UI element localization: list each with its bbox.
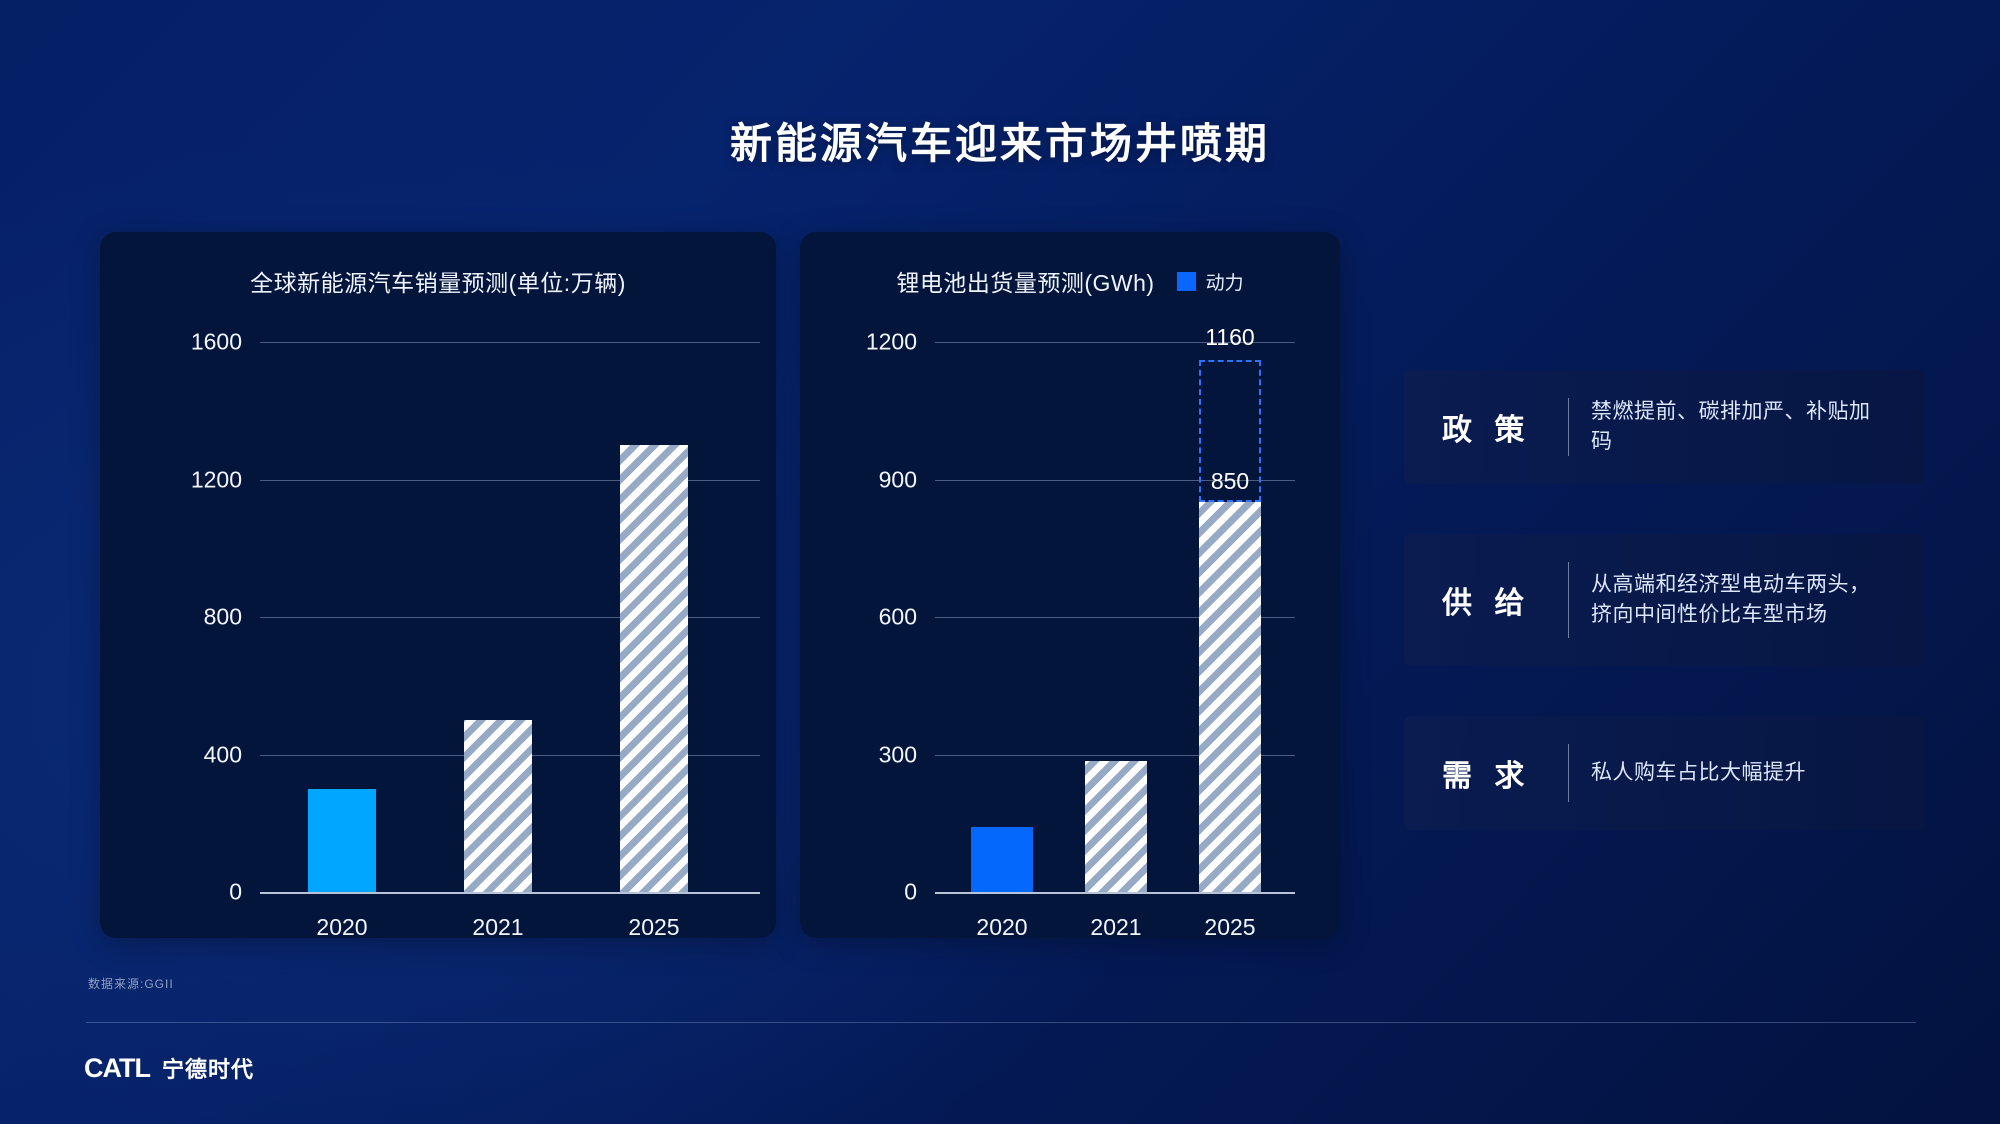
left-chart-header: 全球新能源汽车销量预测(单位:万辆) (100, 264, 776, 298)
left-xtick-2020: 2020 (316, 914, 367, 941)
source-note: 数据来源:GGII (88, 975, 174, 992)
left-plot-area: 1600 1200 800 400 0 2020 2021 2025 (260, 342, 760, 892)
info-box-supply-key: 供 给 (1442, 578, 1550, 622)
legend-swatch-icon (1177, 272, 1196, 291)
right-chart-header: 锂电池出货量预测(GWh) 动力 (800, 264, 1340, 298)
info-box-supply-value: 从高端和经济型电动车两头， 挤向中间性价比车型市场 (1591, 570, 1871, 631)
brand-logo-latin: CATL (84, 1053, 150, 1084)
left-ytick-0: 0 (229, 879, 260, 906)
left-bar-2025 (620, 445, 688, 892)
right-ytick-900: 900 (879, 466, 935, 493)
left-xtick-2025: 2025 (628, 914, 679, 941)
right-bar-2025 (1199, 502, 1261, 892)
right-ytick-0: 0 (904, 879, 935, 906)
left-ytick-1200: 1200 (191, 466, 260, 493)
info-box-policy-key: 政 策 (1442, 405, 1550, 449)
footer-divider (86, 1022, 1916, 1023)
brand-logo: CATL 宁德时代 (84, 1052, 254, 1084)
left-chart-title: 全球新能源汽车销量预测(单位:万辆) (250, 264, 626, 298)
right-bar-2021 (1085, 761, 1147, 892)
right-ytick-600: 600 (879, 604, 935, 631)
chart-card-ev-sales: 全球新能源汽车销量预测(单位:万辆) 1600 1200 800 400 0 2… (100, 232, 776, 938)
page-title: 新能源汽车迎来市场井喷期 (0, 110, 2000, 171)
right-ytick-1200: 1200 (866, 329, 935, 356)
info-box-supply[interactable]: 供 给 从高端和经济型电动车两头， 挤向中间性价比车型市场 (1404, 534, 1924, 666)
right-bar-label-850: 850 (1211, 468, 1249, 495)
right-ytick-300: 300 (879, 741, 935, 768)
left-xtick-2021: 2021 (472, 914, 523, 941)
info-box-demand[interactable]: 需 求 私人购车占比大幅提升 (1404, 716, 1924, 830)
left-ytick-1600: 1600 (191, 329, 260, 356)
right-xtick-2025: 2025 (1204, 914, 1255, 941)
right-plot-area: 1200 900 600 300 0 1160 850 2020 2021 20… (935, 342, 1295, 892)
info-box-demand-value: 私人购车占比大幅提升 (1591, 758, 1806, 788)
right-xtick-2020: 2020 (976, 914, 1027, 941)
right-chart-legend: 动力 (1177, 268, 1244, 295)
info-box-policy-divider (1568, 398, 1569, 456)
brand-logo-cn: 宁德时代 (162, 1052, 254, 1084)
left-gridline-1600 (260, 342, 760, 343)
info-box-supply-divider (1568, 562, 1569, 638)
right-chart-title: 锂电池出货量预测(GWh) (896, 264, 1154, 298)
right-x-axis (935, 892, 1295, 894)
left-bar-2020 (308, 789, 376, 892)
info-box-demand-divider (1568, 744, 1569, 802)
left-ytick-800: 800 (204, 604, 260, 631)
legend-label-power: 动力 (1206, 268, 1244, 295)
right-xtick-2021: 2021 (1090, 914, 1141, 941)
right-bar-2020 (971, 827, 1033, 893)
left-bar-2021 (464, 720, 532, 892)
chart-card-battery-shipments: 锂电池出货量预测(GWh) 动力 1200 900 600 300 0 1160… (800, 232, 1340, 938)
info-box-policy[interactable]: 政 策 禁燃提前、碳排加严、补贴加码 (1404, 370, 1924, 484)
left-ytick-400: 400 (204, 741, 260, 768)
right-bar-label-1160: 1160 (1205, 324, 1254, 351)
info-box-policy-value: 禁燃提前、碳排加严、补贴加码 (1591, 397, 1886, 458)
left-x-axis (260, 892, 760, 894)
info-box-demand-key: 需 求 (1442, 751, 1550, 795)
